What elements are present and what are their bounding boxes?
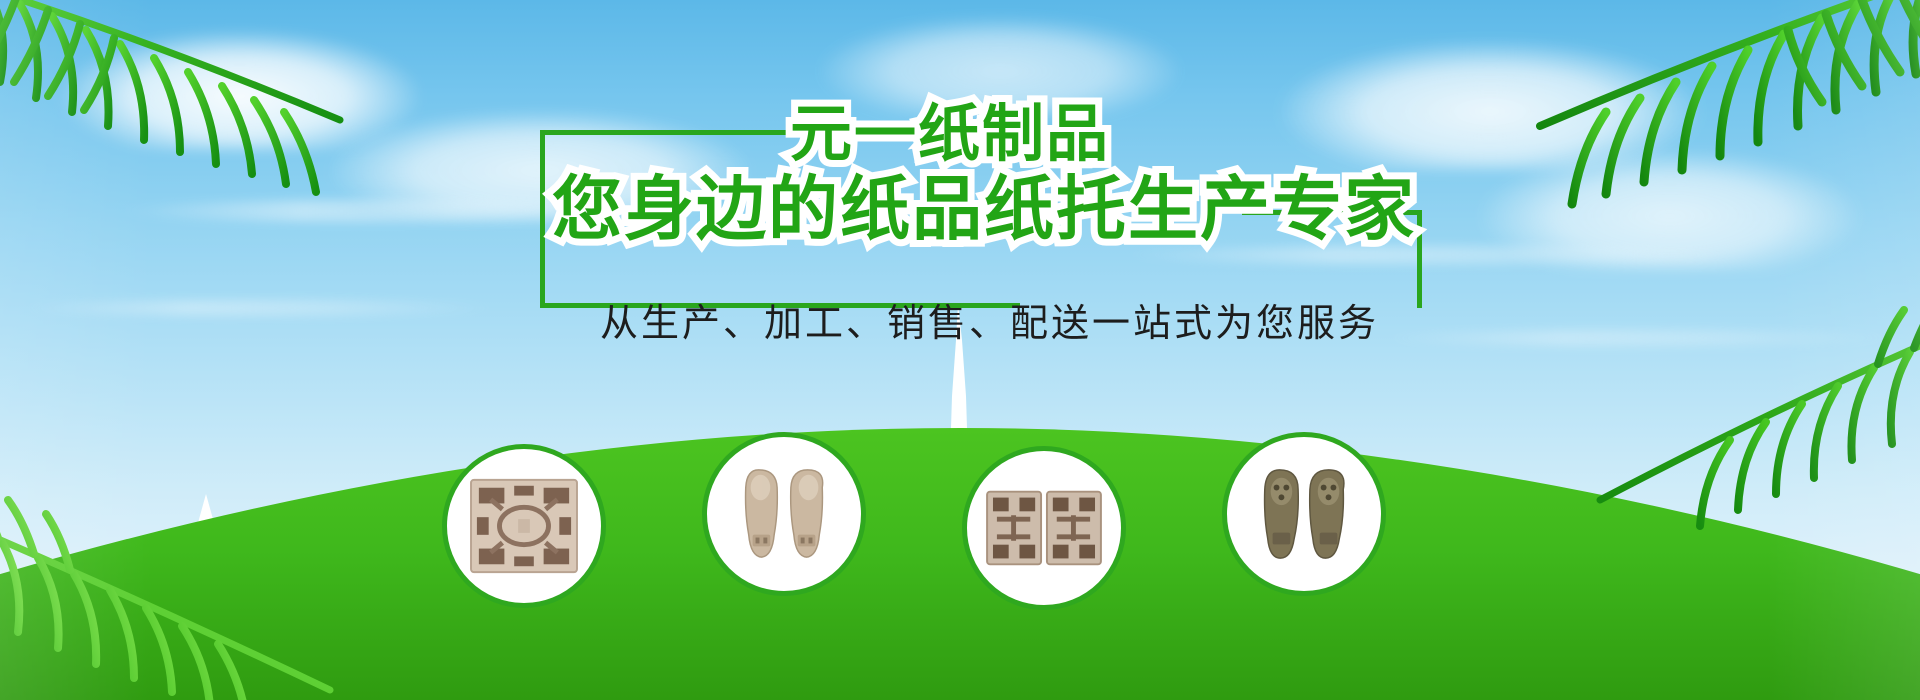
molded-pulp-shoe-inserts-dark-icon bbox=[1245, 462, 1363, 566]
product-circle-4[interactable] bbox=[1222, 432, 1386, 596]
product-circle-2[interactable] bbox=[702, 432, 866, 596]
tagline: 您身边的纸品纸托生产专家 bbox=[552, 174, 1416, 244]
molded-pulp-shoe-inserts-light-icon bbox=[725, 462, 843, 566]
frame-left-rule bbox=[540, 130, 545, 308]
subtitle: 从生产、加工、销售、配送一站式为您服务 bbox=[600, 292, 1379, 347]
product-gallery bbox=[0, 432, 1920, 632]
product-circle-3[interactable] bbox=[962, 446, 1126, 610]
brand-title: 元一纸制品 bbox=[790, 104, 1110, 166]
product-circle-1[interactable] bbox=[442, 444, 606, 608]
promo-banner: 元一纸制品 您身边的纸品纸托生产专家 从生产、加工、销售、配送一站式为您服务 bbox=[0, 0, 1920, 700]
cloud-shape bbox=[1280, 40, 1700, 170]
cloud-shape bbox=[60, 30, 420, 150]
molded-pulp-pair-trays-icon bbox=[985, 476, 1103, 580]
frame-right-rule bbox=[1417, 210, 1422, 308]
cloud-shape bbox=[1480, 150, 1860, 270]
molded-pulp-square-tray-icon bbox=[465, 474, 583, 578]
cloud-streak bbox=[1120, 246, 1740, 264]
